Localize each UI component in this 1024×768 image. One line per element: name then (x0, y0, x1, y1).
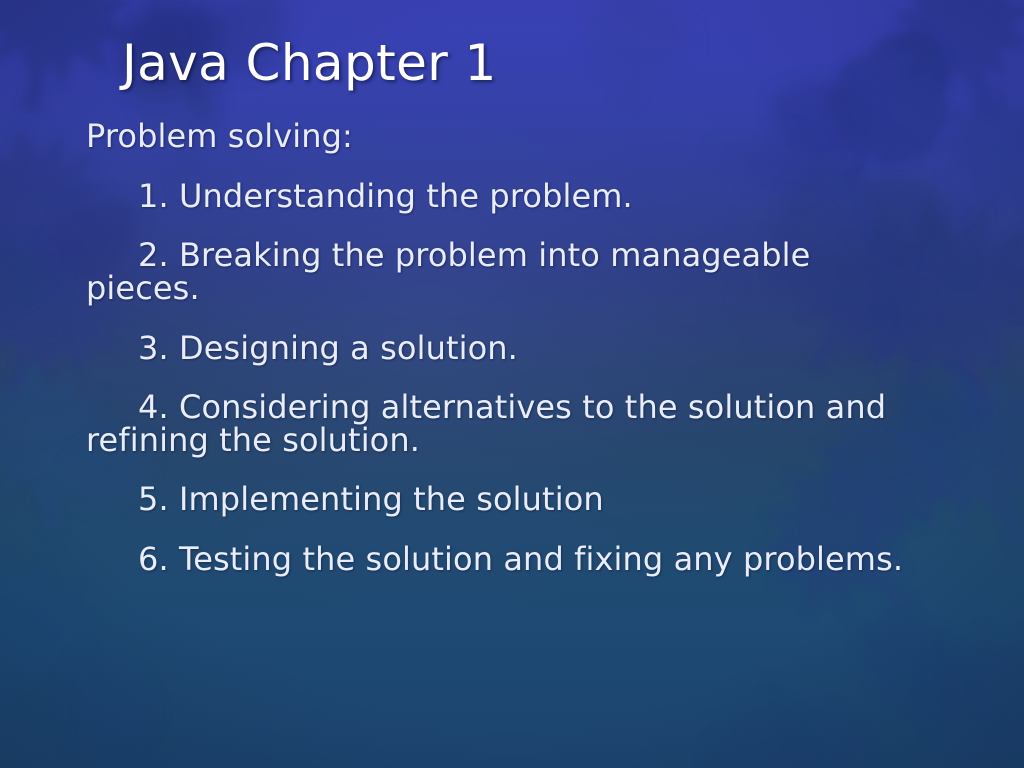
step-item-2: 2. Breaking the problem into manageable … (86, 239, 916, 304)
slide-body: Problem solving: 1. Understanding the pr… (86, 120, 916, 576)
presentation-slide: Java Chapter 1 Problem solving: 1. Under… (0, 0, 1024, 768)
step-item-6: 6. Testing the solution and fixing any p… (86, 543, 916, 576)
slide-title: Java Chapter 1 (122, 36, 497, 90)
step-item-5: 5. Implementing the solution (86, 483, 916, 516)
step-item-1: 1. Understanding the problem. (86, 180, 916, 213)
step-item-4: 4. Considering alternatives to the solut… (86, 391, 916, 456)
body-lead-text: Problem solving: (86, 120, 916, 153)
step-item-3: 3. Designing a solution. (86, 332, 916, 365)
